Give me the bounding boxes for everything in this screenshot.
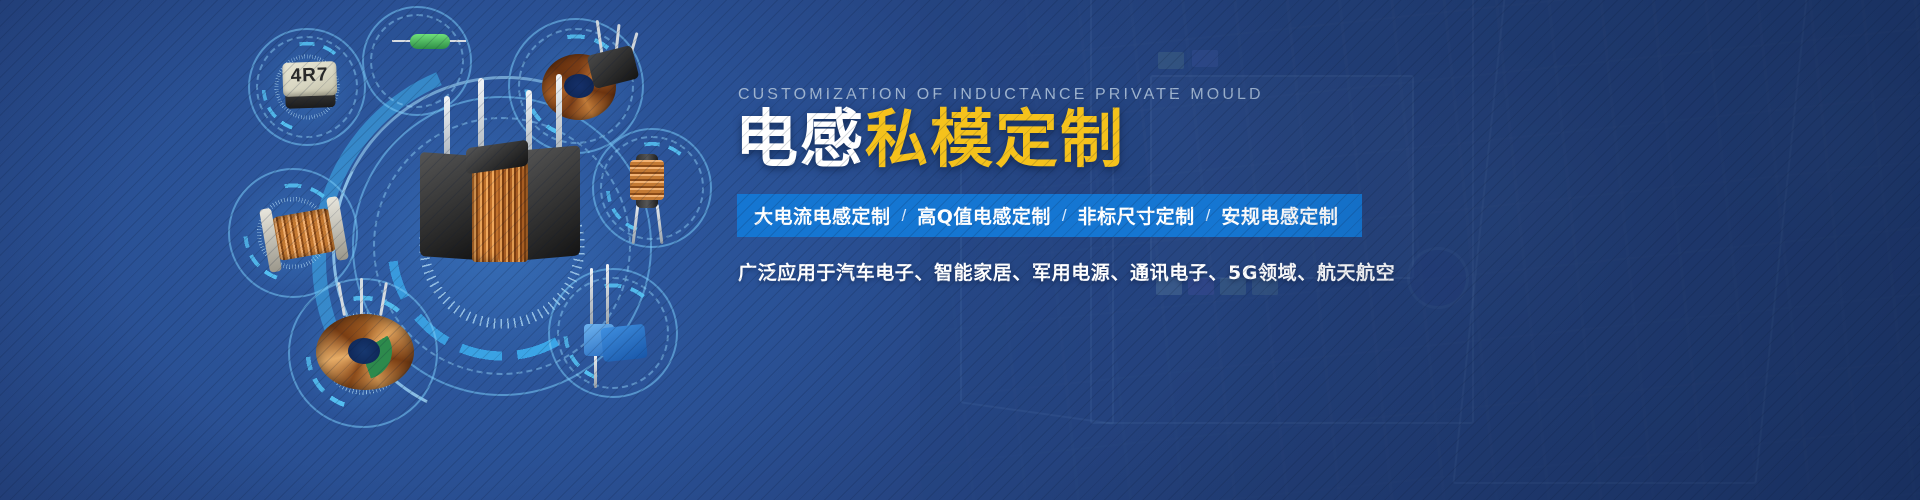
choke-pin xyxy=(444,96,450,158)
choke-pin xyxy=(478,78,484,156)
radial-lead xyxy=(590,268,593,328)
page-title: 电感私模定制 xyxy=(735,108,1125,171)
toroid-pin xyxy=(360,278,363,316)
feature-list-bar: 大电流电感定制 / 高Q值电感定制 / 非标尺寸定制 / 安规电感定制 xyxy=(737,194,1362,237)
banner-content: CUSTOMIZATION OF INDUCTANCE PRIVATE MOUL… xyxy=(735,0,1835,500)
feature-item-2: 高Q值电感定制 xyxy=(917,202,1051,229)
copper-winding xyxy=(498,166,524,262)
axial-core xyxy=(410,34,450,49)
blue-radial-inductor xyxy=(574,294,658,392)
vertical-rod-choke xyxy=(620,148,674,248)
toroid-hole xyxy=(564,74,594,98)
radial-lead xyxy=(606,264,609,328)
feature-separator: / xyxy=(1195,206,1222,226)
choke-lead xyxy=(632,204,640,244)
title-part-yellow: 私模定制 xyxy=(865,103,1125,176)
title-part-white: 电感 xyxy=(735,103,865,176)
copper-winding xyxy=(271,207,338,261)
feature-item-3: 非标尺寸定制 xyxy=(1078,202,1195,229)
smd-power-inductor: 4R7 xyxy=(280,61,340,113)
smd-marking-label: 4R7 xyxy=(280,64,339,88)
choke-housing xyxy=(587,45,640,89)
choke-lead xyxy=(656,204,664,244)
axial-lead-left xyxy=(392,40,412,42)
feature-item-4: 安规电感定制 xyxy=(1221,202,1338,229)
inductance-promo-banner: 4R7 xyxy=(0,0,1920,500)
axial-inductor xyxy=(392,24,466,58)
hud-ring-axial xyxy=(362,6,472,116)
choke-pin xyxy=(556,74,562,154)
radial-lead xyxy=(594,354,597,388)
feature-list: 大电流电感定制 / 高Q值电感定制 / 非标尺寸定制 / 安规电感定制 xyxy=(737,202,1338,229)
radial-body xyxy=(600,324,647,362)
green-toroidal-inductor xyxy=(312,300,422,398)
feature-separator: / xyxy=(891,206,918,226)
product-collage: 4R7 xyxy=(0,0,720,500)
banner-eyebrow-english: CUSTOMIZATION OF INDUCTANCE PRIVATE MOUL… xyxy=(738,86,1264,104)
large-common-mode-choke xyxy=(414,112,586,264)
application-description: 广泛应用于汽车电子、智能家居、军用电源、通讯电子、5G领域、航天航空 xyxy=(738,258,1395,285)
copper-winding xyxy=(630,160,664,200)
feature-item-1: 大电流电感定制 xyxy=(754,202,891,229)
toroid-hole xyxy=(348,338,380,364)
feature-separator: / xyxy=(1051,206,1078,226)
